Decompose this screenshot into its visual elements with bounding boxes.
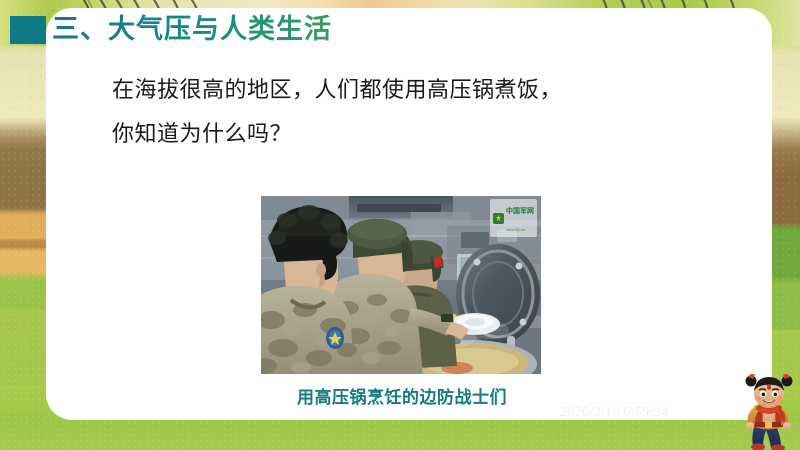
photo-watermark-mark: [493, 213, 504, 224]
title-square-marker: [10, 16, 46, 44]
photo-watermark-url: www.81.cn: [506, 227, 525, 232]
body-paragraph: 在海拔很高的地区，人们都使用高压锅煮饭， 你知道为什么吗？: [112, 68, 672, 156]
slide-canvas: 三、大气压与人类生活 在海拔很高的地区，人们都使用高压锅煮饭， 你知道为什么吗？: [0, 0, 800, 450]
page-title: 三、大气压与人类生活: [52, 11, 332, 47]
timestamp-watermark: 2026/3/10 6:59:34: [560, 405, 668, 421]
nezha-mascot: [741, 374, 799, 450]
photo-watermark-logo: 中国军网 www.81.cn: [490, 199, 537, 237]
body-line-1: 在海拔很高的地区，人们都使用高压锅煮饭，: [112, 68, 672, 112]
photo-watermark-brand: 中国军网: [506, 208, 534, 215]
body-line-2: 你知道为什么吗？: [112, 112, 672, 156]
photo-caption: 用高压锅烹饪的边防战士们: [262, 383, 542, 408]
soldiers-cooking-photo: 中国军网 www.81.cn: [261, 196, 541, 374]
